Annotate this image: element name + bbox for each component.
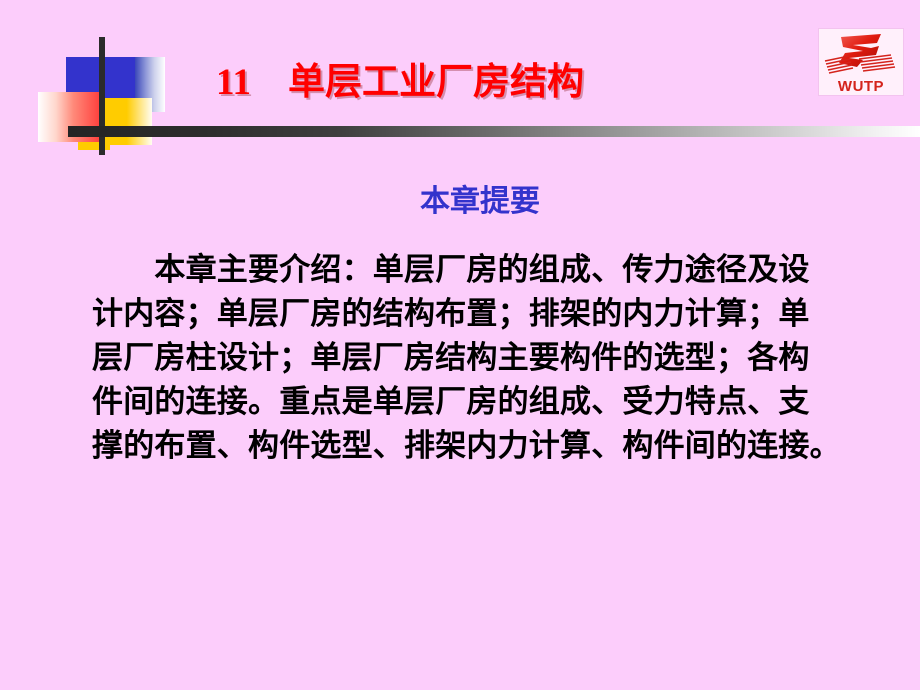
body-line: 层厂房柱设计；单层厂房结构主要构件的选型；各构 [92, 336, 852, 380]
body-line: 本章主要介绍：单层厂房的组成、传力途径及设 [92, 248, 852, 292]
slide-title: 11 单层工业厂房结构 [0, 60, 800, 106]
emblem-stripes [825, 55, 895, 73]
section-heading: 本章提要 [0, 182, 920, 222]
body-line: 件间的连接。重点是单层厂房的组成、受力特点、支 [92, 380, 852, 424]
publisher-logo: WUTP [818, 28, 904, 96]
publisher-logo-text: WUTP [819, 79, 903, 95]
emblem-swoosh [839, 34, 881, 67]
wutp-emblem-icon [819, 29, 903, 77]
body-text-block: 本章主要介绍：单层厂房的组成、传力途径及设 计内容；单层厂房的结构布置；排架的内… [92, 248, 852, 468]
presentation-slide: WUTP 11 单层工业厂房结构 本章提要 本章主要介绍：单层厂房的组成、传力途… [0, 0, 920, 690]
body-line: 撑的布置、构件选型、排架内力计算、构件间的连接。 [92, 424, 852, 468]
body-line: 计内容；单层厂房的结构布置；排架的内力计算；单 [92, 292, 852, 336]
deco-horizontal-gradient-bar [68, 126, 920, 137]
